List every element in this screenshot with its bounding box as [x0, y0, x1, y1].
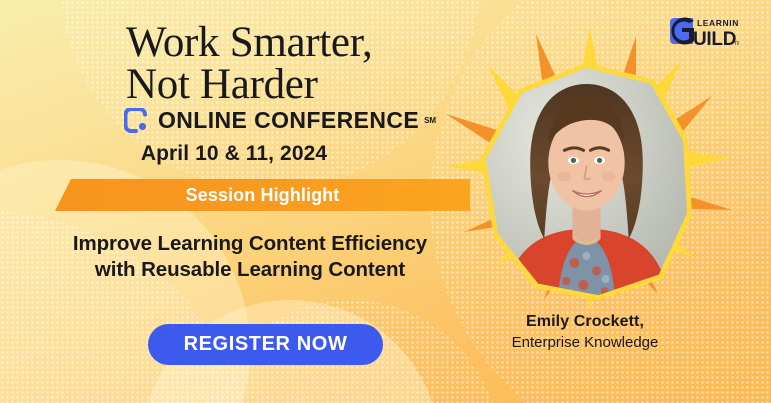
svg-text:TM: TM: [734, 41, 739, 47]
session-highlight-label: Session Highlight: [55, 179, 470, 211]
svg-text:LEARNING: LEARNING: [697, 18, 739, 28]
svg-text:UILD: UILD: [693, 29, 736, 48]
online-conference-bracket-icon: [124, 108, 150, 134]
event-date: April 10 & 11, 2024: [0, 142, 468, 166]
online-conference-text: ONLINE CONFERENCE: [158, 107, 419, 134]
promotional-banner: Work Smarter, Not Harder ONLINE CONFEREN…: [0, 0, 771, 403]
speaker-portrait: [481, 63, 692, 300]
speaker-organization: Enterprise Knowledge: [470, 334, 700, 351]
register-now-button[interactable]: REGISTER NOW: [148, 324, 383, 365]
speaker-info: Emily Crockett, Enterprise Knowledge: [470, 313, 700, 351]
page-title: Work Smarter, Not Harder: [126, 22, 446, 106]
session-title: Improve Learning Content Efficiency with…: [30, 231, 470, 283]
service-mark: SM: [424, 116, 436, 125]
online-conference-lockup: ONLINE CONFERENCE SM: [124, 107, 436, 134]
learning-guild-logo: LEARNING UILD TM: [667, 14, 739, 48]
speaker-name: Emily Crockett,: [470, 313, 700, 331]
